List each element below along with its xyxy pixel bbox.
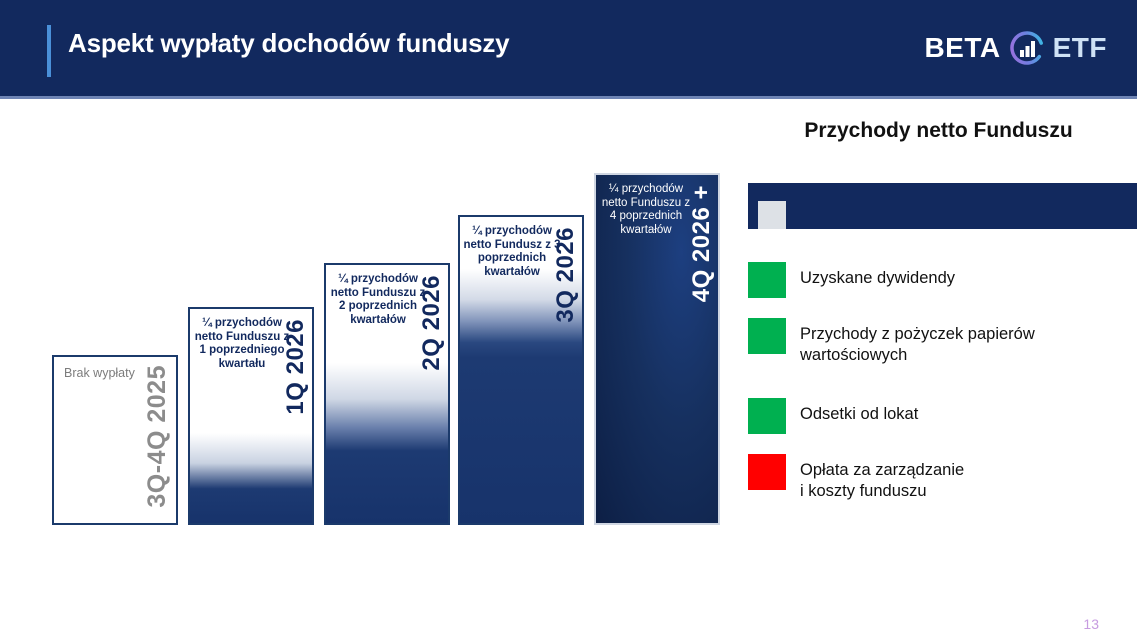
staircase-bar-chart: Brak wypłaty 3Q-4Q 2025 ¼ przychodów net… [0,96,740,640]
legend-summary-bar [748,183,1137,229]
legend-item-odsetki: Odsetki od lokat [748,398,918,434]
legend-label-oplata: Opłata za zarządzanie i koszty funduszu [800,454,964,502]
bar-2q-2026: ¼ przychodów netto Funduszu z 2 poprzedn… [324,263,450,525]
legend-item-dywidendy: Uzyskane dywidendy [748,262,955,298]
bar-1q-2026: ¼ przychodów netto Funduszu z 1 poprzedn… [188,307,314,525]
bar-caption-3: ¼ przychodów netto Funduszu z 2 poprzedn… [330,273,426,327]
logo-beta-text: BETA [924,32,1000,64]
bar-caption-2: ¼ przychodów netto Funduszu z 1 poprzedn… [194,317,290,371]
legend-item-pozyczki: Przychody z pożyczek papierów wartościow… [748,318,1035,366]
legend-label-pozyczki: Przychody z pożyczek papierów wartościow… [800,318,1035,366]
legend-swatch-green-odsetki [748,398,786,434]
legend-label-dywidendy: Uzyskane dywidendy [800,262,955,289]
legend-title: Przychody netto Funduszu [740,119,1137,143]
page-title: Aspekt wypłaty dochodów funduszy [68,28,509,59]
legend-panel: Przychody netto Funduszu Uzyskane dywide… [740,96,1137,640]
beta-etf-logo: BETA ETF [924,26,1107,70]
logo-etf-text: ETF [1053,32,1107,64]
bar-caption-4: ¼ przychodów netto Fundusz z 3 poprzedni… [462,225,562,279]
bar-period-3: 2Q 2026 [418,275,446,371]
bar-period-2: 1Q 2026 [282,319,310,415]
legend-summary-swatch [758,201,786,229]
legend-swatch-red-oplata [748,454,786,490]
page-number: 13 [1083,616,1099,632]
bar-period-1: 3Q-4Q 2025 [143,365,172,508]
bar-3q-4q-2025: Brak wypłaty 3Q-4Q 2025 [52,355,178,525]
legend-item-oplata: Opłata za zarządzanie i koszty funduszu [748,454,964,502]
bar-period-5: 4Q 2026 + [688,185,716,302]
header-accent-bar [47,25,51,77]
bar-caption-1: Brak wypłaty [64,367,154,381]
bar-4q-2026-plus: ¼ przychodów netto Funduszu z 4 poprzedn… [594,173,720,525]
legend-swatch-green-pozyczki [748,318,786,354]
legend-swatch-green-dywidendy [748,262,786,298]
bar-caption-5: ¼ przychodów netto Funduszu z 4 poprzedn… [598,183,694,237]
bar-chart-circle-icon [1007,28,1047,68]
bar-period-4: 3Q 2026 [552,227,580,323]
legend-label-odsetki: Odsetki od lokat [800,398,918,425]
bar-3q-2026: ¼ przychodów netto Fundusz z 3 poprzedni… [458,215,584,525]
